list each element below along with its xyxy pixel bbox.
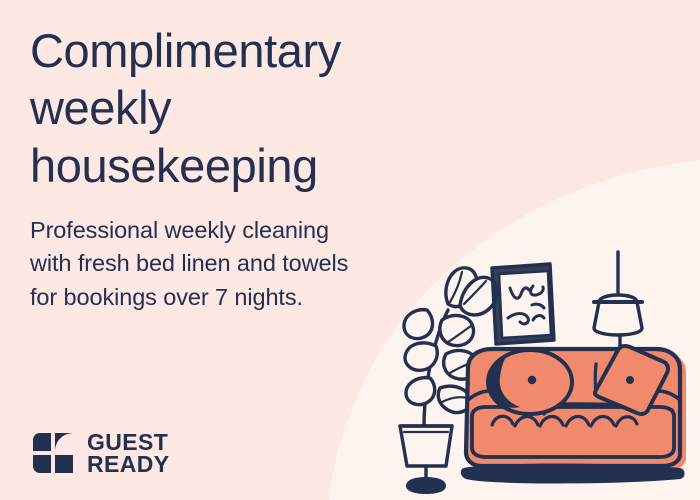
copy-block: Complimentary weekly housekeeping Profes… [30, 22, 460, 314]
page-title: Complimentary weekly housekeeping [30, 22, 460, 194]
logo-wordmark: GUEST READY [87, 431, 170, 475]
description-text: Professional weekly cleaning with fresh … [30, 214, 460, 314]
promo-card: Complimentary weekly housekeeping Profes… [0, 0, 700, 500]
guestready-logo[interactable]: GUEST READY [30, 430, 170, 476]
pendant-lamp-icon [594, 252, 642, 354]
logo-line-2: READY [87, 453, 170, 475]
logo-line-1: GUEST [87, 431, 170, 453]
guestready-quadrant-mark [30, 430, 76, 476]
round-cushion-icon [487, 350, 572, 414]
sofa-icon [461, 346, 686, 484]
framed-picture-icon [492, 264, 554, 344]
